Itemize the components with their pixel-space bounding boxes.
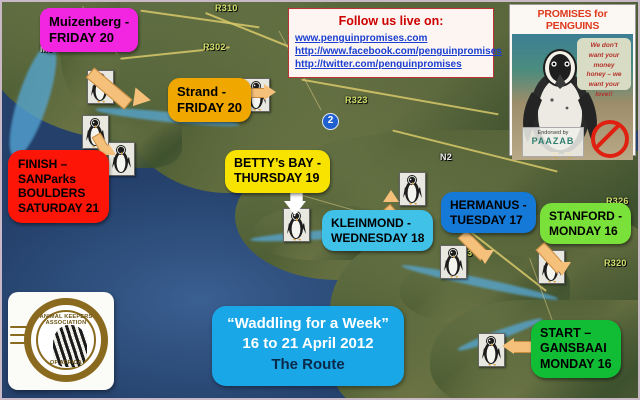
stop-label-start[interactable]: START – GANSBAAI MONDAY 16 xyxy=(531,320,621,378)
stop-label-strand[interactable]: Strand - FRIDAY 20 xyxy=(168,78,251,122)
speech-bubble: We don't want your money honey – we want… xyxy=(577,38,631,90)
paazab-logo: PAAZAB xyxy=(523,136,583,146)
link-website[interactable]: www.penguinpromises.com xyxy=(295,32,487,45)
poster-title-line3: The Route xyxy=(212,356,404,373)
logo-text-top: ANIMAL KEEPERS ASSOCIATION xyxy=(31,314,101,326)
poster-canvas: R310 R302 R323 N2 R43 R320 R326 M5 M9 2 xyxy=(0,0,640,400)
poster-title-line2: 16 to 21 April 2012 xyxy=(212,335,404,352)
stop-label-muizenberg[interactable]: Muizenberg - FRIDAY 20 xyxy=(40,8,138,52)
road-label-r320: R320 xyxy=(604,258,627,268)
penguin-marker xyxy=(399,172,426,206)
stop-label-bettys-bay[interactable]: BETTY’s BAY - THURSDAY 19 xyxy=(225,150,330,193)
poster-title-line1: “Waddling for a Week” xyxy=(212,315,404,332)
logo-text-bottom: OF AFRICA xyxy=(31,360,101,366)
penguin-marker xyxy=(440,245,467,279)
road-label-r310: R310 xyxy=(215,3,238,13)
poster-title-banner: “Waddling for a Week” 16 to 21 April 201… xyxy=(212,306,404,386)
promises-for-penguins-panel: PROMISES for PENGUINS We don't want your… xyxy=(509,4,636,156)
akaa-logo-card: ANIMAL KEEPERS ASSOCIATION OF AFRICA xyxy=(8,292,114,390)
link-facebook[interactable]: http://www.facebook.com/penguinpromises xyxy=(295,45,487,58)
follow-us-heading: Follow us live on: xyxy=(295,14,487,28)
logo-seal: ANIMAL KEEPERS ASSOCIATION OF AFRICA xyxy=(24,298,108,382)
penguin-marker xyxy=(478,333,505,367)
road-label-r302: R302 xyxy=(203,42,226,52)
promises-title: PROMISES for PENGUINS xyxy=(512,8,633,32)
highway-shield-2: 2 xyxy=(322,113,339,130)
stop-label-kleinmond[interactable]: KLEINMOND - WEDNESDAY 18 xyxy=(322,210,433,251)
stop-label-hermanus[interactable]: HERMANUS - TUESDAY 17 xyxy=(441,192,536,233)
penguin-photo: We don't want your money honey – we want… xyxy=(512,34,633,160)
stop-label-stanford[interactable]: STANFORD - MONDAY 16 xyxy=(540,203,631,244)
road-label-n2: N2 xyxy=(440,152,452,162)
stop-label-finish[interactable]: FINISH – SANParks BOULDERS SATURDAY 21 xyxy=(8,150,109,223)
road-label-r323: R323 xyxy=(345,95,368,105)
follow-us-panel: Follow us live on: www.penguinpromises.c… xyxy=(288,8,494,78)
prohibition-icon xyxy=(591,120,629,158)
endorsement-badge: Endorsed by PAAZAB xyxy=(522,127,584,157)
link-twitter[interactable]: http://twitter.com/penguinpromises xyxy=(295,58,487,71)
logo-text-ring: ANIMAL KEEPERS ASSOCIATION OF AFRICA xyxy=(31,305,101,375)
